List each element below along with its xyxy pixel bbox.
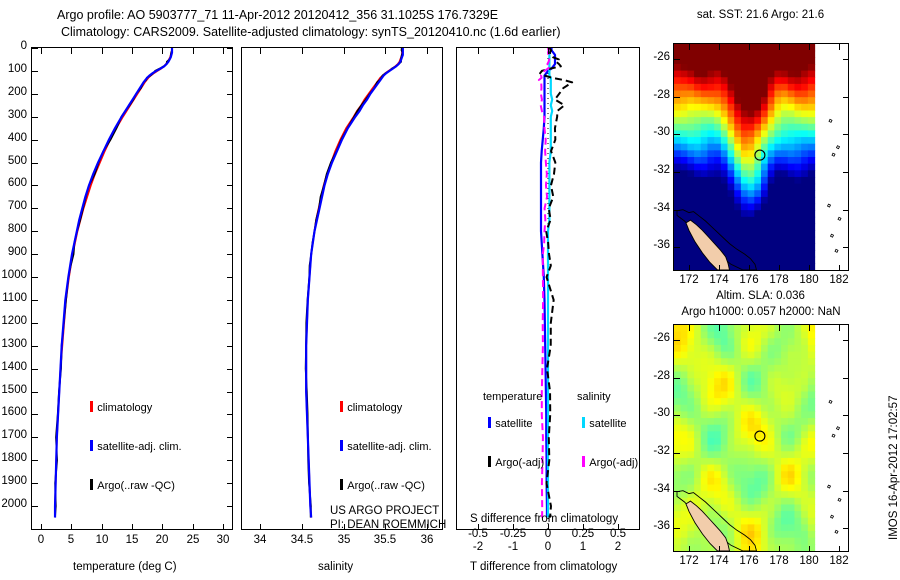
legend-label-climatology: climatology (97, 402, 152, 414)
legend-label-argo-raw: Argo(..raw -QC) (97, 480, 175, 492)
legend-item-argo-raw-2: Argo(..raw -QC) (328, 467, 432, 504)
tick-label: 0 (528, 541, 568, 553)
tick-label: 5 (57, 534, 85, 546)
tick-label: 25 (179, 534, 207, 546)
tick-label: -34 (638, 202, 670, 214)
tick-label: 174 (703, 274, 735, 286)
tick-label: 180 (793, 555, 825, 567)
legend-label-climatology-2: climatology (347, 402, 402, 414)
tick-label: 1300 (0, 338, 27, 350)
difference-legend-salinity: salinity satellite Argo(-adj) (570, 391, 638, 481)
tick-label: 300 (0, 109, 27, 121)
legend-item-argo-raw: Argo(..raw -QC) (78, 467, 182, 504)
tick-label: 20 (148, 534, 176, 546)
tick-label: 10 (88, 534, 116, 546)
tick-label: -34 (638, 483, 670, 495)
tick-label: 1700 (0, 429, 27, 441)
tick-label: -32 (638, 164, 670, 176)
tick-label: 1400 (0, 361, 27, 373)
legend-item-climatology-2: climatology (328, 389, 432, 426)
tick-label: 1000 (0, 269, 27, 281)
legend-label-t-satellite: satellite (495, 418, 532, 430)
tick-label: 30 (209, 534, 237, 546)
tick-label: 1200 (0, 315, 27, 327)
tick-label: 182 (823, 274, 855, 286)
sla-map-title-line1: Altim. SLA: 0.036 (673, 290, 848, 302)
tick-label: -28 (638, 370, 670, 382)
legend-swatch-t-satellite (488, 417, 491, 428)
tick-label: 172 (673, 274, 705, 286)
salinity-axis-label: salinity (318, 561, 353, 573)
sst-map (673, 43, 849, 271)
sst-map-svg (674, 44, 848, 270)
tick-label: 1 (563, 541, 603, 553)
tick-label: -26 (638, 51, 670, 63)
tick-label: 180 (793, 274, 825, 286)
tick-label: 176 (733, 274, 765, 286)
legend-swatch-satellite-adj (90, 440, 93, 451)
tick-label: 1800 (0, 452, 27, 464)
tick-label: 182 (823, 555, 855, 567)
tick-label: 0 (27, 534, 55, 546)
tick-label: 174 (703, 555, 735, 567)
legend-label-s-satellite: satellite (589, 418, 626, 430)
timestamp-label: IMOS 16-Apr-2012 17:02:57 (888, 396, 900, 540)
legend-item-satellite-adj: satellite-adj. clim. (78, 428, 182, 465)
legend-label-t-argo: Argo(-adj) (495, 457, 544, 469)
sla-map (673, 324, 849, 552)
legend-swatch-satellite-adj-2 (340, 440, 343, 451)
tick-label: 800 (0, 223, 27, 235)
tick-label: 2 (598, 541, 638, 553)
temperature-axis-label: temperature (deg C) (73, 561, 177, 573)
sla-map-svg (674, 325, 848, 551)
tick-label: 34 (240, 534, 280, 546)
legend-swatch-argo-raw (90, 479, 93, 490)
page-title-line1: Argo profile: AO 5903777_71 11-Apr-2012 … (57, 8, 498, 22)
tick-label: 100 (0, 63, 27, 75)
tick-label: 900 (0, 246, 27, 258)
legend-item-s-argo: Argo(-adj) (570, 444, 638, 481)
s-difference-axis-label: S difference from climatology (470, 513, 618, 525)
t-difference-axis-label: T difference from climatology (470, 561, 617, 573)
tick-label: 35 (324, 534, 364, 546)
credit-line2: PI: DEAN ROEMMICH (330, 519, 446, 531)
legend-swatch-t-argo (488, 456, 491, 467)
tick-label: -28 (638, 89, 670, 101)
legend-item-s-satellite: satellite (570, 405, 638, 442)
legend-label-s-argo: Argo(-adj) (589, 457, 638, 469)
temperature-legend: climatology satellite-adj. clim. Argo(..… (78, 389, 182, 504)
legend-label-satellite-adj-2: satellite-adj. clim. (347, 441, 431, 453)
tick-label: -2 (458, 541, 498, 553)
credit-line1: US ARGO PROJECT (330, 505, 439, 517)
salinity-legend: climatology satellite-adj. clim. Argo(..… (328, 389, 432, 504)
legend-label-argo-raw-2: Argo(..raw -QC) (347, 480, 425, 492)
tick-label: -36 (638, 520, 670, 532)
sla-map-title-line2: Argo h1000: 0.057 h2000: NaN (660, 306, 862, 318)
tick-label: 15 (118, 534, 146, 546)
legend-label-satellite-adj: satellite-adj. clim. (97, 441, 181, 453)
tick-label: 36 (407, 534, 447, 546)
tick-label: 1100 (0, 292, 27, 304)
legend-group-title-salinity: salinity (570, 391, 638, 403)
legend-item-t-argo: Argo(-adj) (476, 444, 544, 481)
legend-item-satellite-adj-2: satellite-adj. clim. (328, 428, 432, 465)
legend-swatch-s-satellite (582, 417, 585, 428)
tick-label: -26 (638, 332, 670, 344)
tick-label: -36 (638, 239, 670, 251)
legend-group-title-temperature: temperature (476, 391, 544, 403)
legend-item-t-satellite: satellite (476, 405, 544, 442)
legend-swatch-climatology (90, 401, 93, 412)
tick-label: 0 (0, 40, 27, 52)
tick-label: 2000 (0, 498, 27, 510)
tick-label: 1500 (0, 384, 27, 396)
tick-label: 176 (733, 555, 765, 567)
tick-label: -32 (638, 445, 670, 457)
tick-label: 700 (0, 200, 27, 212)
tick-label: 400 (0, 132, 27, 144)
tick-label: 34.5 (282, 534, 322, 546)
tick-label: 500 (0, 155, 27, 167)
page-title-line2: Climatology: CARS2009. Satellite-adjuste… (61, 25, 561, 39)
tick-label: 1600 (0, 406, 27, 418)
tick-label: 178 (763, 555, 795, 567)
tick-label: 600 (0, 177, 27, 189)
tick-label: 178 (763, 274, 795, 286)
legend-swatch-argo-raw-2 (340, 479, 343, 490)
tick-label: 200 (0, 86, 27, 98)
legend-swatch-s-argo (582, 456, 585, 467)
tick-label: -1 (493, 541, 533, 553)
legend-item-climatology: climatology (78, 389, 182, 426)
difference-legend-temperature: temperature satellite Argo(-adj) (476, 391, 544, 481)
sst-map-title: sat. SST: 21.6 Argo: 21.6 (673, 9, 848, 21)
tick-label: 172 (673, 555, 705, 567)
tick-label: -30 (638, 407, 670, 419)
tick-label: 35.5 (365, 534, 405, 546)
tick-label: 1900 (0, 475, 27, 487)
tick-label: -30 (638, 126, 670, 138)
legend-swatch-climatology-2 (340, 401, 343, 412)
